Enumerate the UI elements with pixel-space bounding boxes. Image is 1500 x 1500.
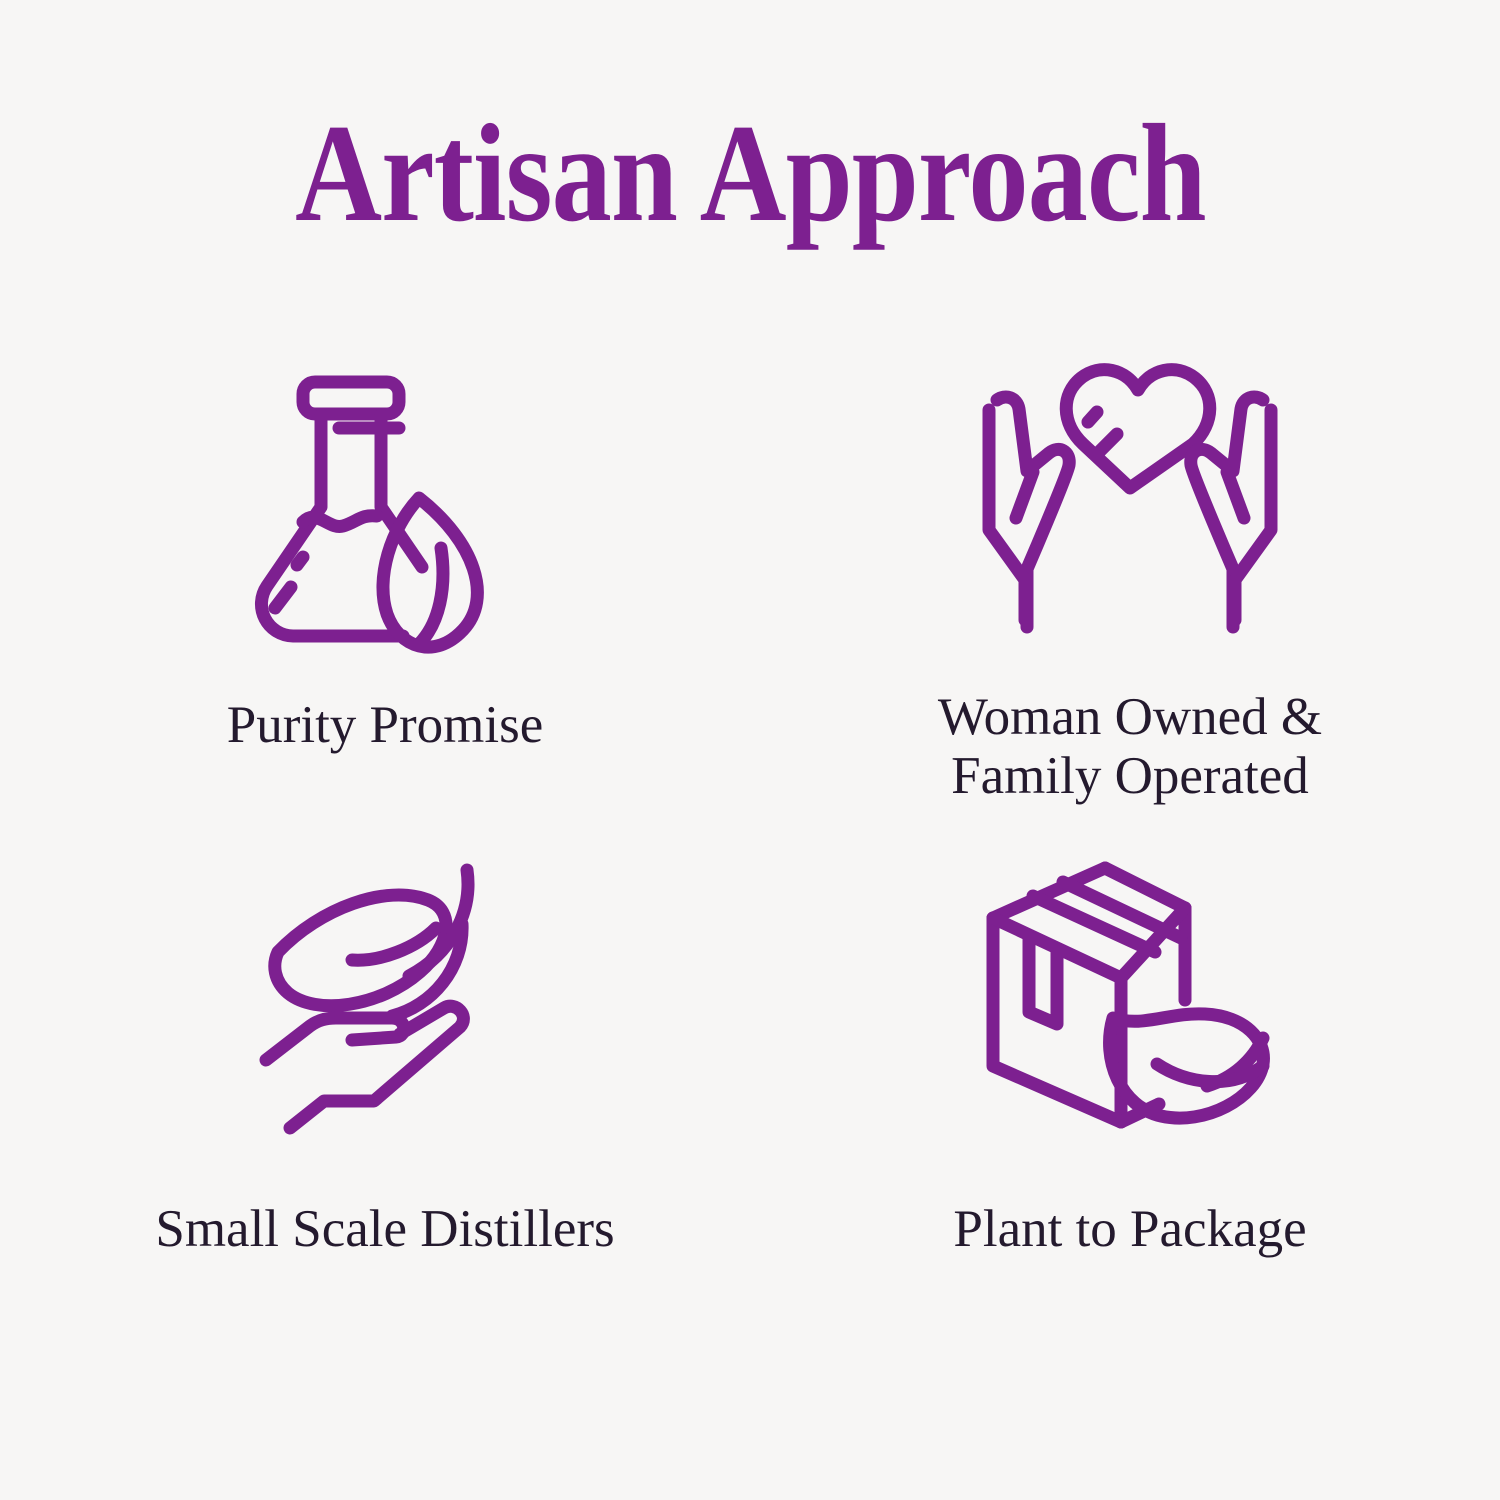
hands-heart-icon <box>975 360 1285 660</box>
feature-label-plant-to-package: Plant to Package <box>953 1200 1306 1259</box>
feature-label-woman-owned: Woman Owned & Family Operated <box>938 688 1322 807</box>
hand-leaf-icon <box>260 860 510 1150</box>
feature-label-purity-promise: Purity Promise <box>227 696 544 755</box>
feature-grid: Purity Promise <box>0 360 1500 1360</box>
feature-card-small-scale-distillers: Small Scale Distillers <box>0 860 750 1360</box>
artisan-approach-panel: Artisan Approach <box>0 0 1500 1500</box>
feature-card-woman-owned: Woman Owned & Family Operated <box>750 360 1500 860</box>
feature-label-small-scale-distillers: Small Scale Distillers <box>155 1200 614 1259</box>
page-title: Artisan Approach <box>295 104 1206 244</box>
feature-card-plant-to-package: Plant to Package <box>750 860 1500 1360</box>
flask-leaf-icon <box>255 360 515 660</box>
page-title-container: Artisan Approach <box>0 104 1500 244</box>
feature-card-purity-promise: Purity Promise <box>0 360 750 860</box>
box-leaf-icon <box>985 860 1275 1150</box>
